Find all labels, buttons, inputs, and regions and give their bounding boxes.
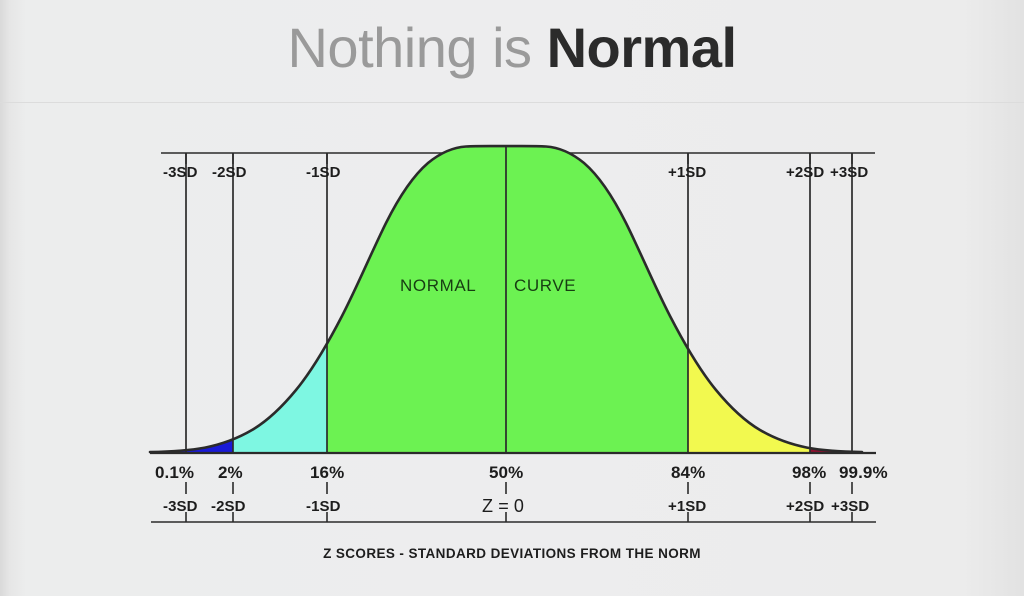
bottom-label-minus1sd: -1SD [306,498,341,515]
distribution-bands [150,142,870,454]
bottom-label-minus3sd: -3SD [163,498,198,515]
band-left-outer-tail [150,142,233,454]
percent-label-plus2sd: 98% [792,463,826,483]
page-header: Nothing is Normal [0,0,1024,103]
bottom-label-plus1sd: +1SD [668,498,706,515]
top-label-minus2sd: -2SD [212,164,247,181]
curve-label-right: CURVE [514,276,576,296]
top-label-plus3sd: +3SD [830,164,868,181]
band-central-region [327,142,688,454]
bottom-label-plus3sd: +3SD [831,498,869,515]
chart-caption: Z SCORES - STANDARD DEVIATIONS FROM THE … [0,546,1024,561]
percent-label-minus1sd: 16% [310,463,344,483]
top-label-plus1sd: +1SD [668,164,706,181]
bottom-label-plus2sd: +2SD [786,498,824,515]
top-label-plus2sd: +2SD [786,164,824,181]
page-title-bold: Normal [547,16,737,79]
bottom-label-zscore-zero: Z = 0 [482,496,524,517]
percent-label-zero: 50% [489,463,523,483]
bottom-label-minus2sd: -2SD [211,498,246,515]
percent-label-plus3sd: 99.9% [839,463,888,483]
normal-distribution-chart: -3SD -2SD -1SD +1SD +2SD +3SD NORMAL CUR… [0,102,1024,596]
top-label-minus1sd: -1SD [306,164,341,181]
band-right-inner-tail [688,142,810,454]
percent-label-minus3sd: 0.1% [155,463,194,483]
percent-label-minus2sd: 2% [218,463,243,483]
band-right-outer-tail [810,142,870,454]
page-title-light: Nothing is [287,16,531,79]
top-label-minus3sd: -3SD [163,164,198,181]
curve-label-left: NORMAL [400,276,476,296]
bottom-connector-ticks [186,482,852,494]
percent-label-plus1sd: 84% [671,463,705,483]
page-title: Nothing is Normal [287,20,736,82]
normal-curve-graphic [0,102,1024,596]
